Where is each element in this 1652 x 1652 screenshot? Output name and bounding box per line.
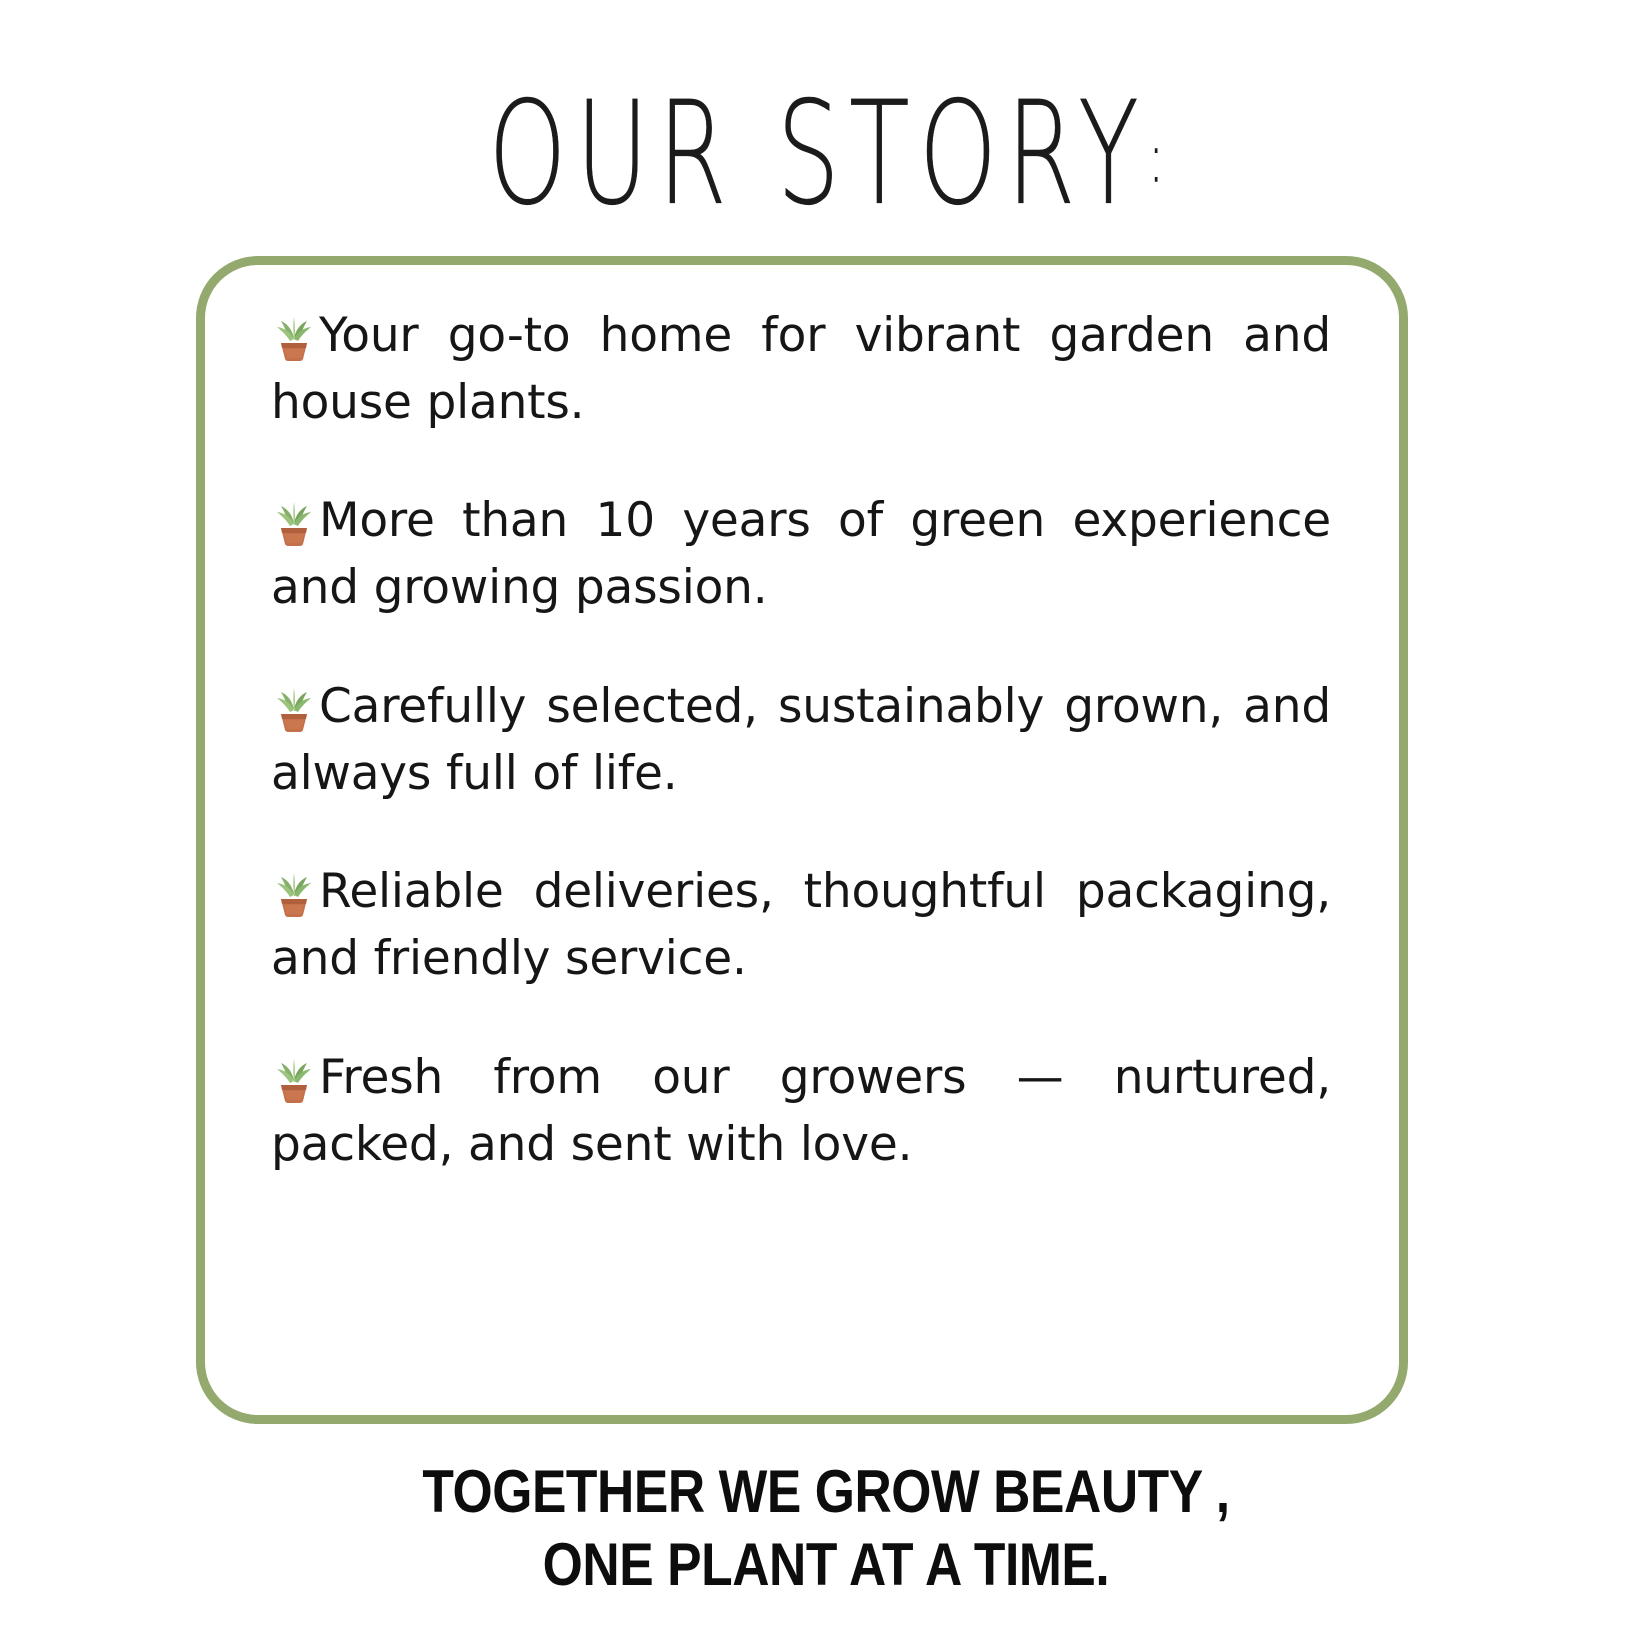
tagline-line-1: TOGETHER WE GROW BEAUTY , bbox=[422, 1458, 1229, 1525]
tagline-line-2: ONE PLANT AT A TIME. bbox=[116, 1528, 1537, 1601]
page-title: OUR STORY: bbox=[488, 84, 1164, 227]
list-item: More than 10 years of green experience a… bbox=[271, 488, 1331, 621]
tagline: TOGETHER WE GROW BEAUTY , ONE PLANT AT A… bbox=[116, 1455, 1537, 1601]
potted-plant-icon bbox=[271, 1054, 317, 1104]
story-card-body: Your go-to home for vibrant garden and h… bbox=[271, 303, 1331, 1178]
list-item-text: More than 10 years of green experience a… bbox=[271, 493, 1331, 615]
list-item: Your go-to home for vibrant garden and h… bbox=[271, 303, 1331, 436]
potted-plant-icon bbox=[271, 868, 317, 918]
list-item: Carefully selected, sustainably grown, a… bbox=[271, 674, 1331, 807]
our-story-poster: OUR STORY: Your go-to home for vibrant g… bbox=[0, 0, 1652, 1652]
page-title-container: OUR STORY: bbox=[0, 84, 1652, 192]
page-title-text: OUR STORY bbox=[488, 72, 1148, 237]
potted-plant-icon bbox=[271, 683, 317, 733]
potted-plant-icon bbox=[271, 312, 317, 362]
list-item-text: Carefully selected, sustainably grown, a… bbox=[271, 679, 1331, 801]
list-item-text: Fresh from our growers — nurtured, packe… bbox=[271, 1050, 1331, 1172]
list-item-text: Your go-to home for vibrant garden and h… bbox=[271, 308, 1331, 430]
list-item: Reliable deliveries, thoughtful packagin… bbox=[271, 859, 1331, 992]
list-item-text: Reliable deliveries, thoughtful packagin… bbox=[271, 864, 1331, 986]
list-item: Fresh from our growers — nurtured, packe… bbox=[271, 1045, 1331, 1178]
story-card: Your go-to home for vibrant garden and h… bbox=[196, 256, 1408, 1424]
potted-plant-icon bbox=[271, 497, 317, 547]
page-title-colon: : bbox=[1148, 120, 1164, 199]
